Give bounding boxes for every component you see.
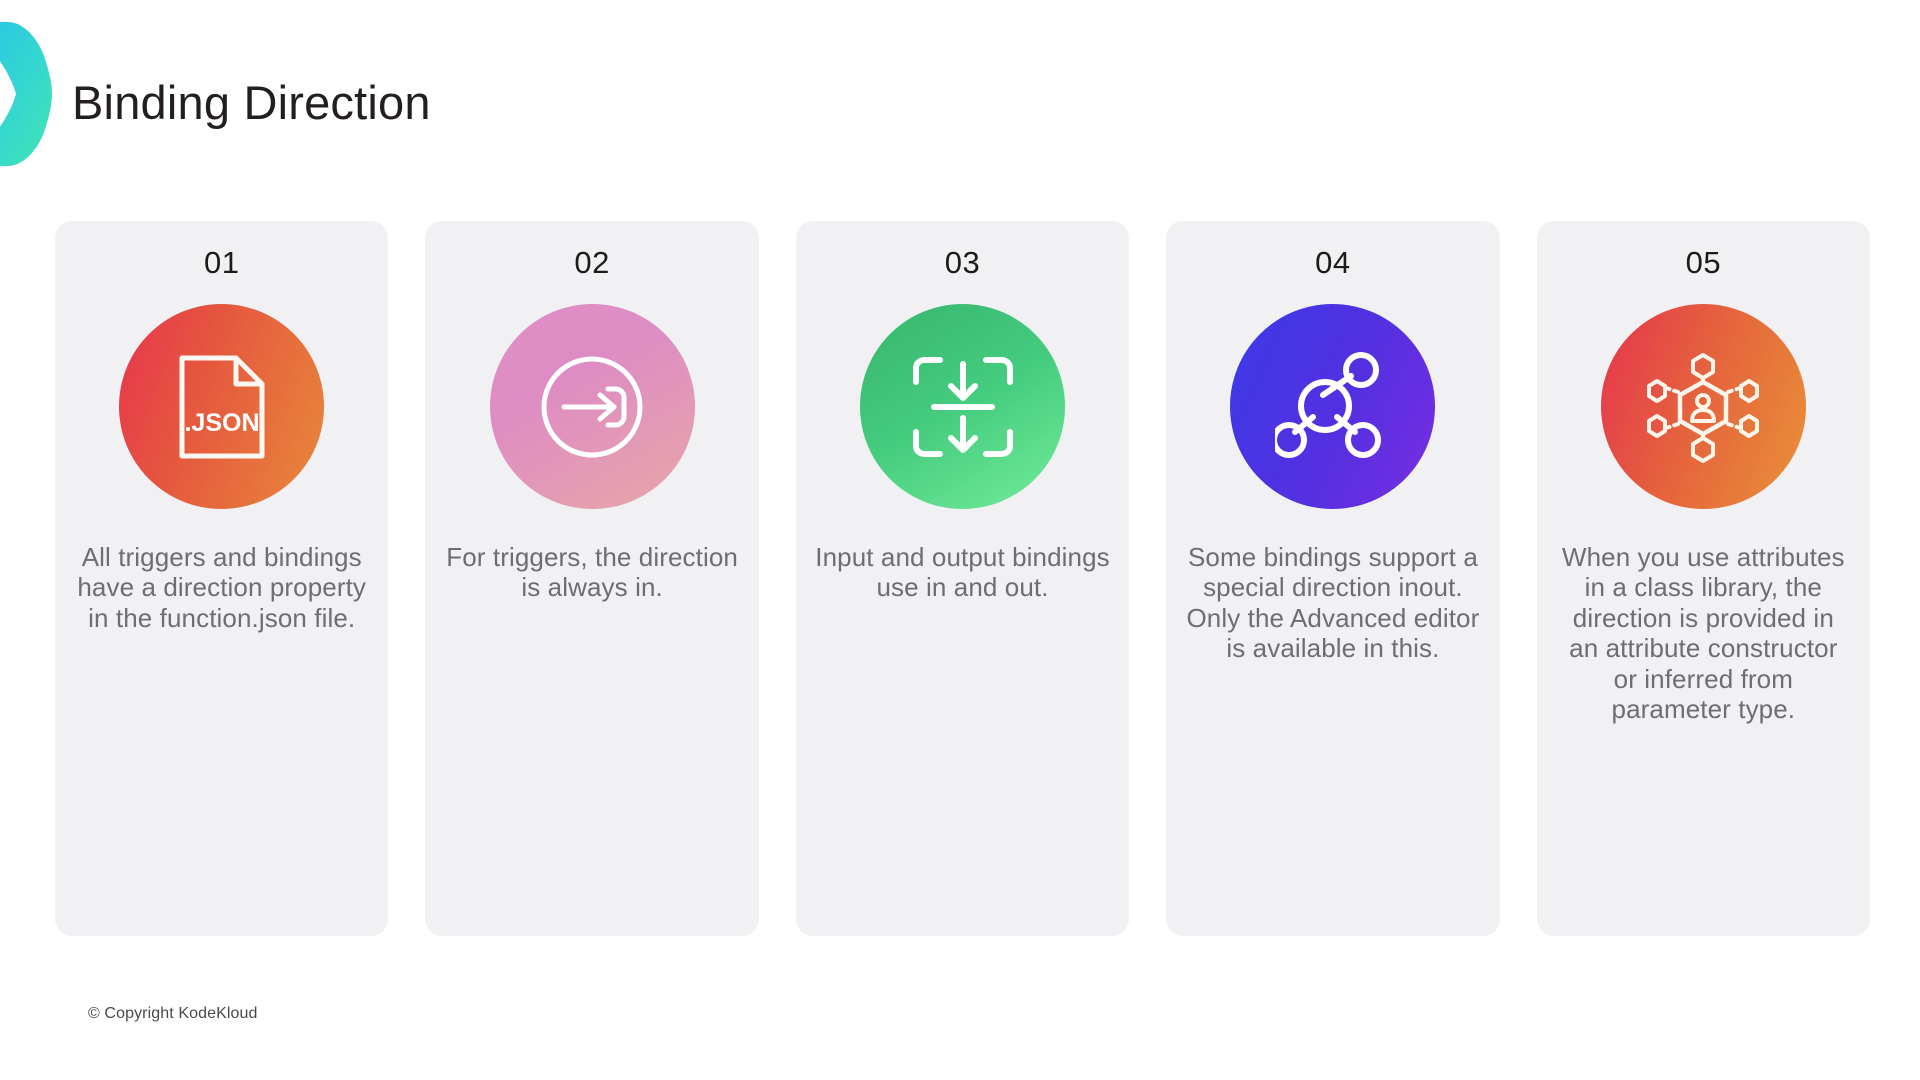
card-02[interactable]: 02 For triggers, the direction is always… bbox=[425, 221, 758, 936]
network-nodes-icon bbox=[1230, 304, 1435, 509]
card-number: 02 bbox=[574, 247, 609, 278]
card-description: For triggers, the direction is always in… bbox=[443, 542, 740, 603]
json-icon-label: .JSON bbox=[184, 409, 259, 437]
json-file-icon: .JSON bbox=[119, 304, 324, 509]
card-04[interactable]: 04 Some bindings support a special direc… bbox=[1166, 221, 1499, 936]
hexagon-user-network-icon bbox=[1601, 304, 1806, 509]
card-description: Some bindings support a special directio… bbox=[1184, 542, 1481, 664]
cards-row: 01 .JSON All triggers and bindings have … bbox=[55, 221, 1870, 936]
input-output-arrows-icon bbox=[860, 304, 1065, 509]
card-number: 03 bbox=[945, 247, 980, 278]
card-number: 04 bbox=[1315, 247, 1350, 278]
card-03[interactable]: 03 Input and output bin bbox=[796, 221, 1129, 936]
card-description: All triggers and bindings have a directi… bbox=[73, 542, 370, 633]
slide-root: Binding Direction 01 .JSON All triggers … bbox=[0, 0, 1920, 1080]
page-title: Binding Direction bbox=[72, 75, 431, 130]
card-number: 05 bbox=[1686, 247, 1721, 278]
card-description: Input and output bindings use in and out… bbox=[814, 542, 1111, 603]
card-description: When you use attributes in a class libra… bbox=[1555, 542, 1852, 724]
chevron-right-decor-icon bbox=[0, 18, 56, 170]
copyright-footer: © Copyright KodeKloud bbox=[88, 1005, 258, 1023]
sign-in-arrow-icon bbox=[490, 304, 695, 509]
card-01[interactable]: 01 .JSON All triggers and bindings have … bbox=[55, 221, 388, 936]
card-05[interactable]: 05 bbox=[1537, 221, 1870, 936]
card-number: 01 bbox=[204, 247, 239, 278]
